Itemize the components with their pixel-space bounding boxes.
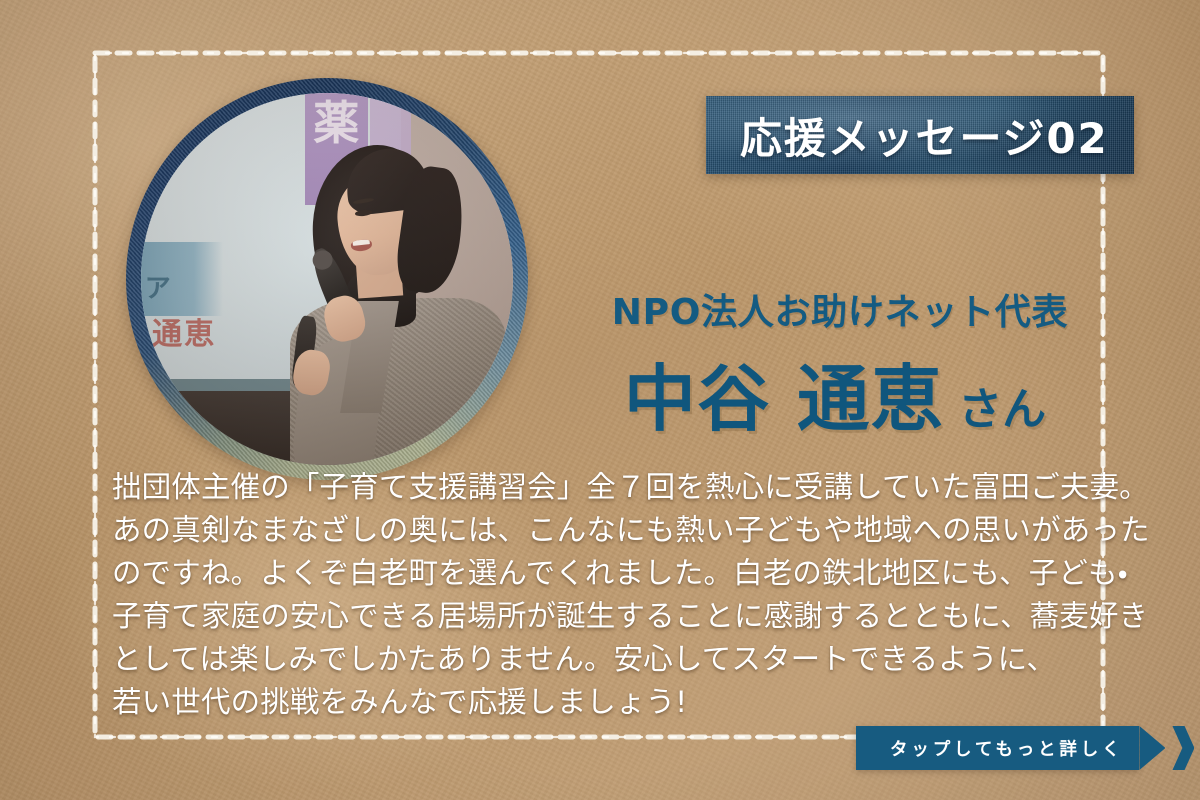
- message-line: 若い世代の挑戦をみんなで応援しましょう!: [112, 681, 1102, 724]
- message-line: としては楽しみでしかたありません。安心してスタートできるように、: [112, 638, 1102, 681]
- organization-title: NPO法人お助けネット代表: [590, 283, 1090, 335]
- photo-color-overlay: [141, 93, 513, 465]
- message-line: のですね。よくぞ白老町を選んでくれました。白老の鉄北地区にも、子ども・: [112, 552, 1102, 595]
- chevron-right-icon: [1172, 726, 1194, 770]
- cta-bar[interactable]: タップしてもっと詳しく: [856, 726, 1139, 770]
- portrait-photo: 薬 ア 通恵: [141, 93, 513, 465]
- portrait: 薬 ア 通恵: [126, 78, 528, 480]
- cta-arrow-tail-icon: [1139, 726, 1165, 770]
- person-name-row: 中谷 通恵 さん: [575, 340, 1095, 445]
- message-body: 拙団体主催の「子育て支援講習会」全７回を熱心に受講していた富田ご夫妻。 あの真剣…: [112, 466, 1102, 724]
- ribbon-title: 応援メッセージ02: [706, 105, 1109, 166]
- cta-label: タップしてもっと詳しく: [890, 736, 1123, 761]
- person-honorific: さん: [958, 373, 1046, 437]
- message-line: 拙団体主催の「子育て支援講習会」全７回を熱心に受講していた富田ご夫妻。: [112, 466, 1102, 509]
- message-line: 子育て家庭の安心できる居場所が誕生することに感謝するとともに、蕎麦好き: [112, 595, 1102, 638]
- person-name: 中谷 通恵: [624, 340, 944, 445]
- read-more-cta[interactable]: タップしてもっと詳しく: [856, 726, 1200, 770]
- message-ribbon-banner: 応援メッセージ02: [706, 96, 1134, 174]
- message-card: 薬 ア 通恵: [0, 0, 1200, 800]
- message-line: あの真剣なまなざしの奥には、こんなにも熱い子どもや地域への思いがあった: [112, 509, 1102, 552]
